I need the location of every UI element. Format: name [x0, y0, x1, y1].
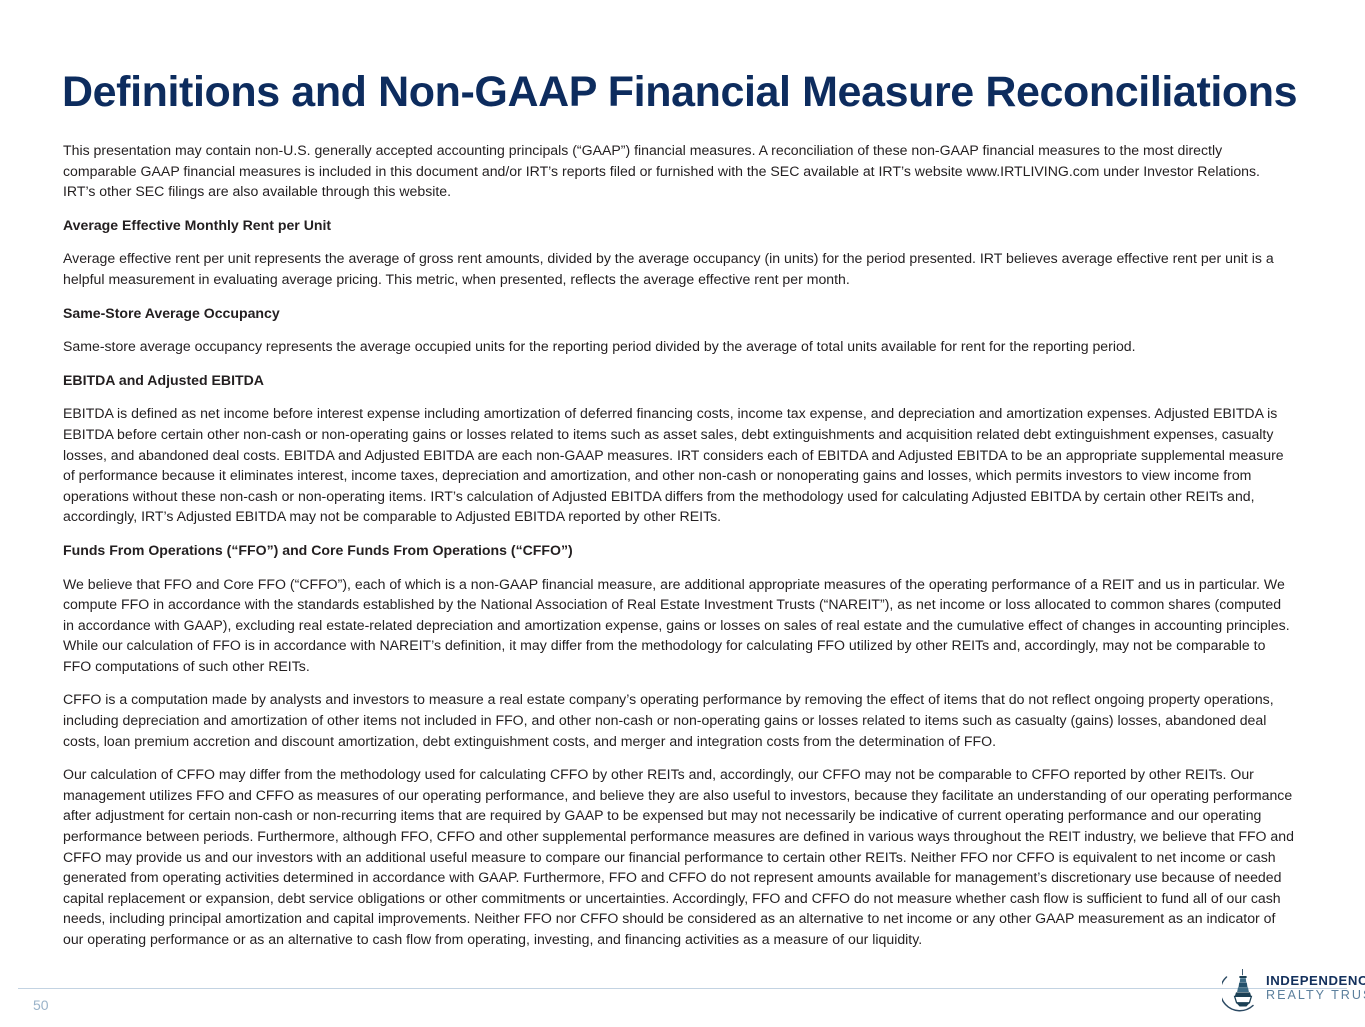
section-body-same-store-average-occupancy: Same-store average occupancy represents … [63, 336, 1295, 357]
company-logo: INDEPENDENCE REALTY TRUST [1222, 967, 1350, 1013]
slide-canvas: Definitions and Non-GAAP Financial Measu… [0, 0, 1365, 1027]
section-body-ebitda: EBITDA is defined as net income before i… [63, 403, 1295, 527]
section-body-ffo-paragraph-1: We believe that FFO and Core FFO (“CFFO”… [63, 574, 1295, 677]
section-heading-ebitda: EBITDA and Adjusted EBITDA [63, 370, 1295, 391]
logo-wordmark: INDEPENDENCE REALTY TRUST [1266, 973, 1365, 1003]
section-body-average-effective-monthly-rent: Average effective rent per unit represen… [63, 248, 1295, 289]
intro-paragraph: This presentation may contain non-U.S. g… [63, 140, 1295, 202]
section-heading-average-effective-monthly-rent: Average Effective Monthly Rent per Unit [63, 215, 1295, 236]
page-number: 50 [33, 996, 49, 1014]
section-heading-same-store-average-occupancy: Same-Store Average Occupancy [63, 303, 1295, 324]
footer-divider [18, 988, 1347, 989]
logo-line-independence: INDEPENDENCE [1266, 973, 1365, 988]
logo-line-realty-trust: REALTY TRUST [1266, 988, 1365, 1003]
section-body-ffo-paragraph-3: Our calculation of CFFO may differ from … [63, 764, 1295, 949]
section-body-ffo-paragraph-2: CFFO is a computation made by analysts a… [63, 689, 1295, 751]
page-title: Definitions and Non-GAAP Financial Measu… [62, 66, 1297, 118]
lighthouse-icon [1222, 967, 1264, 1013]
slide-body-content: This presentation may contain non-U.S. g… [63, 140, 1295, 963]
section-heading-ffo-cffo: Funds From Operations (“FFO”) and Core F… [63, 540, 1295, 561]
